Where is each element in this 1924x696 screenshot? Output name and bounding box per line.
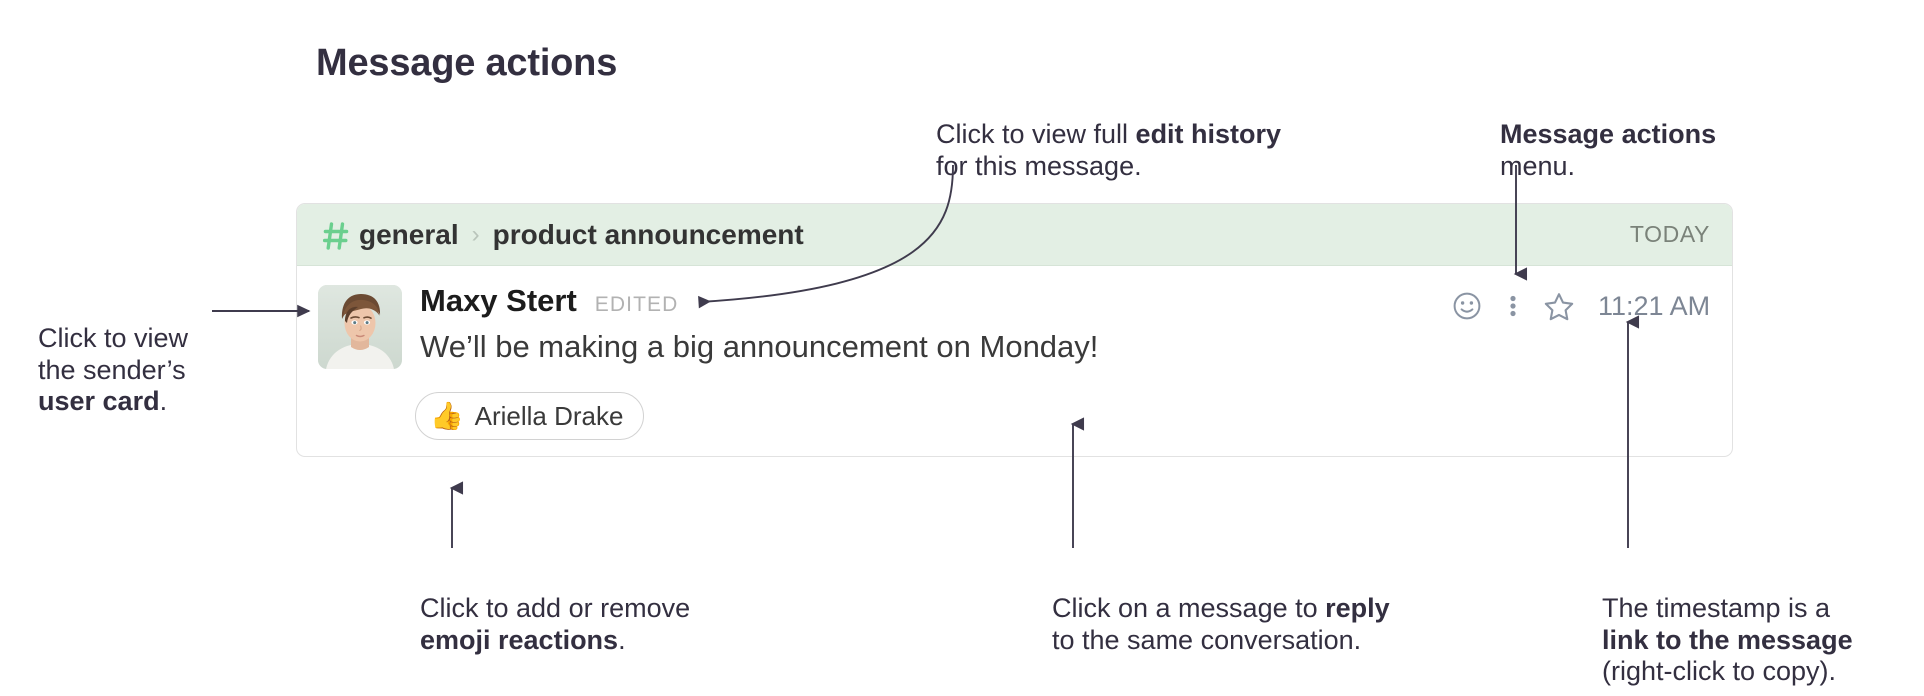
breadcrumb-topic[interactable]: product announcement [493, 219, 804, 251]
annotation-user-card: Click to view the sender’s user card. [38, 292, 258, 417]
breadcrumb-stream[interactable]: general [359, 219, 459, 251]
annotation-reply-emphasis: reply [1325, 593, 1390, 623]
annotation-reply-text-2: to the same conversation. [1052, 625, 1361, 655]
conversation-header: general › product announcement TODAY [297, 204, 1732, 266]
annotation-timestamp-emphasis: link to the message [1602, 625, 1853, 655]
emoji-reaction-pill[interactable]: 👍 Ariella Drake [415, 392, 644, 440]
annotation-user-card-emphasis: user card [38, 386, 160, 416]
annotation-edit-history-text-2: for this message. [936, 151, 1142, 181]
message-actions-menu-icon[interactable] [1490, 286, 1536, 326]
annotation-user-card-text-1: Click to view the sender’s [38, 323, 188, 384]
annotation-edit-history: Click to view full edit history for this… [936, 88, 1356, 182]
annotation-timestamp: The timestamp is a link to the message (… [1602, 562, 1922, 687]
message-text[interactable]: We’ll be making a big announcement on Mo… [420, 329, 1420, 365]
annotation-message-actions: Message actions menu. [1500, 88, 1800, 182]
annotation-reply: Click on a message to reply to the same … [1052, 562, 1452, 656]
annotation-edit-history-emphasis: edit history [1136, 119, 1282, 149]
avatar[interactable] [318, 285, 402, 369]
message-controls: 11:21 AM [1444, 286, 1710, 326]
message-timestamp-link[interactable]: 11:21 AM [1598, 291, 1710, 322]
annotation-timestamp-text-1: The timestamp is a [1602, 593, 1830, 623]
annotation-message-actions-text-2: menu. [1500, 151, 1575, 181]
annotation-user-card-text-2: . [160, 386, 168, 416]
annotation-emoji-text-2: . [618, 625, 626, 655]
date-label: TODAY [1630, 221, 1710, 248]
hash-icon [323, 221, 349, 251]
message-content[interactable]: Maxy Stert EDITED We’ll be making a big … [420, 283, 1420, 365]
edited-badge[interactable]: EDITED [595, 293, 679, 317]
annotation-edit-history-text-1: Click to view full [936, 119, 1136, 149]
annotation-message-actions-emphasis: Message actions [1500, 119, 1716, 149]
illustration-canvas: Message actions Click to view full edit … [0, 0, 1924, 696]
message-headline: Maxy Stert EDITED [420, 283, 1420, 319]
star-icon[interactable] [1536, 286, 1582, 326]
page-title: Message actions [316, 42, 617, 85]
annotation-emoji-text-1: Click to add or remove [420, 593, 690, 623]
emoji-reaction-icon[interactable] [1444, 286, 1490, 326]
sender-name[interactable]: Maxy Stert [420, 283, 577, 319]
breadcrumb-separator-icon: › [472, 221, 480, 249]
annotation-reply-text-1: Click on a message to [1052, 593, 1325, 623]
annotation-timestamp-text-2: (right-click to copy). [1602, 656, 1836, 686]
annotation-emoji-emphasis: emoji reactions [420, 625, 618, 655]
thumbs-up-emoji: 👍 [430, 403, 464, 430]
reaction-user-label: Ariella Drake [475, 401, 624, 432]
annotation-emoji-reactions: Click to add or remove emoji reactions. [420, 562, 780, 656]
